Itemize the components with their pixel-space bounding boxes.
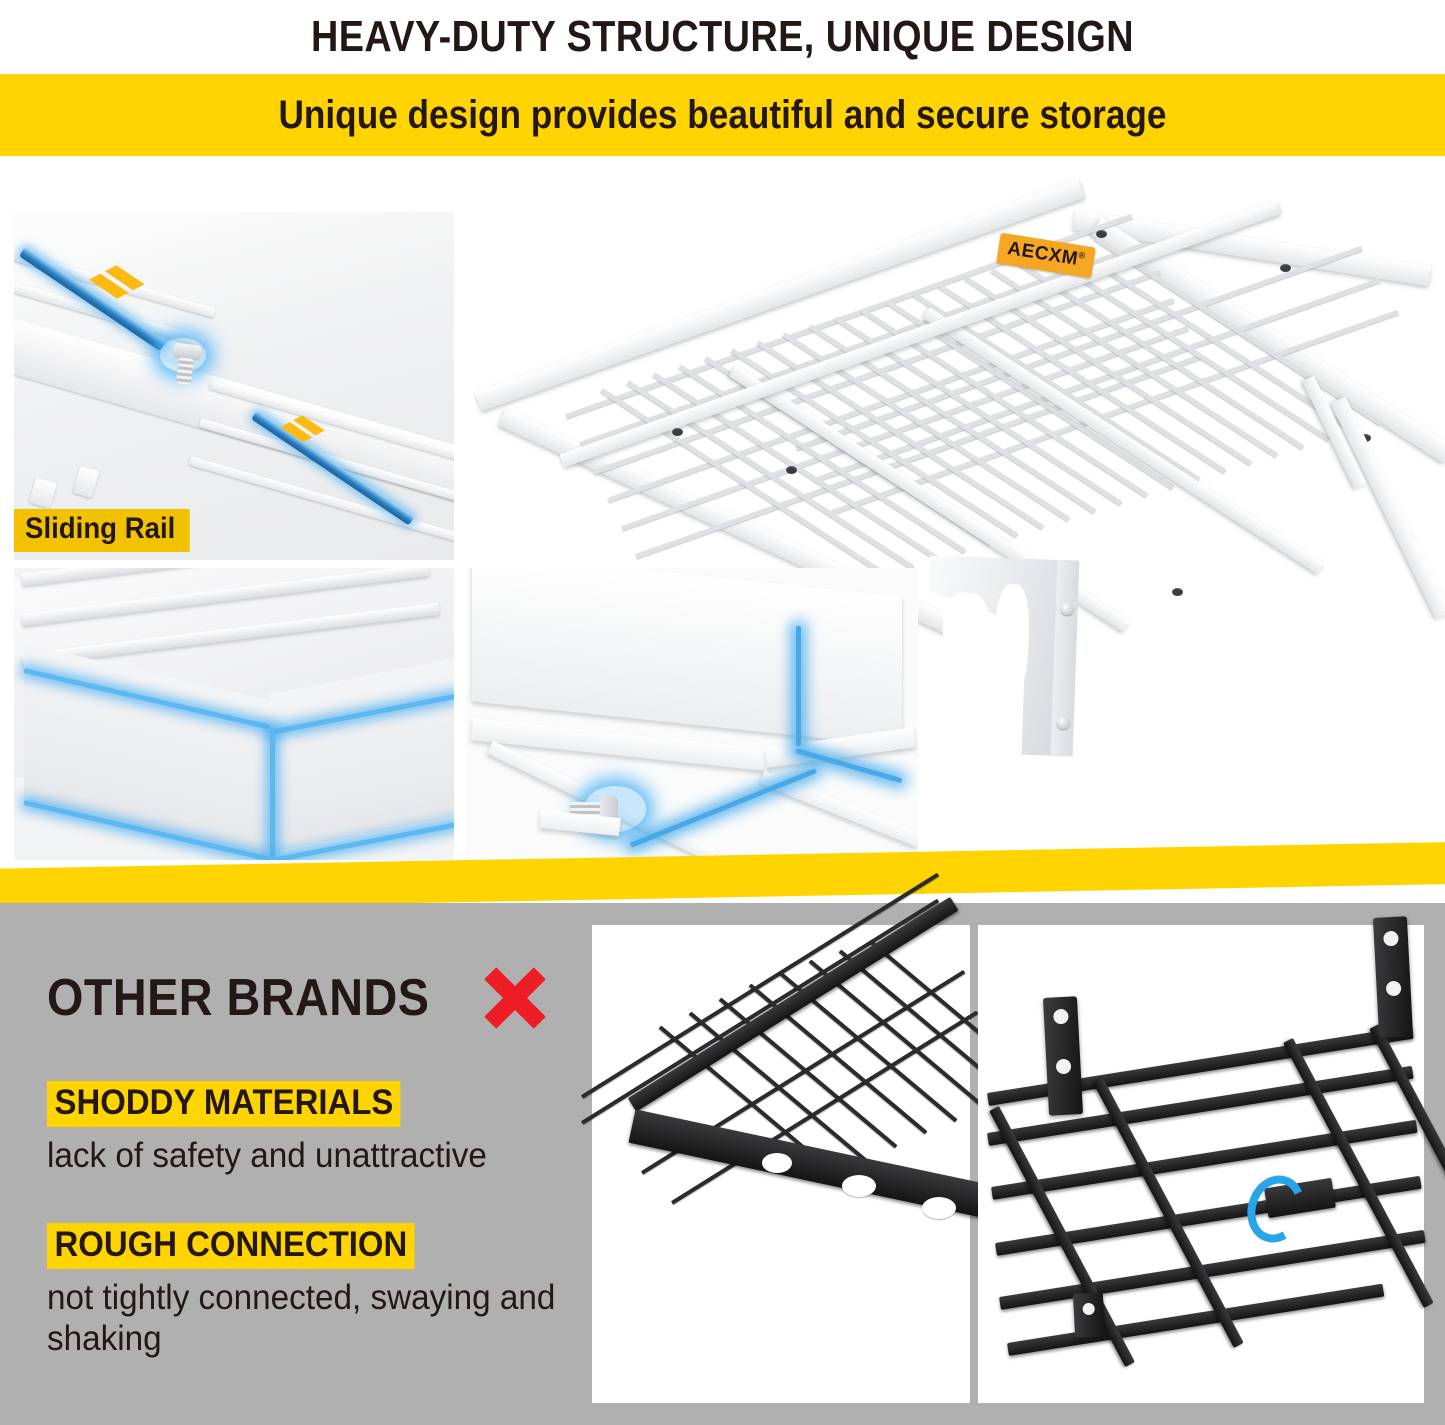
black-mesh-wire — [719, 997, 898, 1148]
rail-scene — [14, 212, 454, 560]
comparison-title-row: OTHER BRANDS — [47, 965, 548, 1031]
mounting-hole — [786, 466, 797, 474]
comparison-point: SHODDY MATERIALS lack of safety and unat… — [47, 1081, 510, 1177]
point-description: lack of safety and unattractive — [47, 1136, 487, 1177]
tight-connection-image — [466, 568, 918, 860]
comparison-point: ROUGH CONNECTION not tightly connected, … — [47, 1223, 587, 1359]
mesh-wire — [635, 354, 1202, 559]
sliding-rail-badge: Sliding Rail — [14, 509, 190, 552]
subheadline-band: Unique design provides beautiful and sec… — [0, 74, 1445, 156]
hex-bolt — [170, 343, 200, 387]
joint-glow-line — [630, 768, 817, 848]
point-heading: SHODDY MATERIALS — [47, 1081, 401, 1127]
wall-bracket — [923, 555, 1080, 756]
feature-collage: AECXM® — [0, 176, 1445, 876]
other-brand-mesh-photo — [592, 925, 970, 1403]
brand-logo-tag: AECXM® — [996, 233, 1096, 279]
mounting-hole — [672, 428, 683, 436]
mounting-hole — [1172, 588, 1183, 596]
point-heading: ROUGH CONNECTION — [47, 1223, 415, 1269]
other-brand-bar-rack-photo — [978, 925, 1424, 1403]
sliding-rail-image: Sliding Rail — [14, 212, 454, 560]
joint-glow-line — [796, 626, 801, 746]
point-description: not tightly connected, swaying and shaki… — [47, 1278, 560, 1359]
rack-assembly: AECXM® — [496, 196, 1416, 626]
reinforced-corner-image — [14, 568, 454, 860]
black-mesh-wire — [581, 899, 939, 1125]
black-wall-bracket — [1043, 996, 1083, 1116]
cross-icon — [482, 965, 548, 1031]
rail-slot — [73, 466, 100, 498]
comparison-title: OTHER BRANDS — [47, 968, 429, 1028]
shelf-panel — [472, 568, 902, 747]
corner-glow-edge — [270, 728, 275, 858]
mounting-hole — [1280, 264, 1291, 272]
mounting-hole — [1096, 230, 1107, 238]
gusset-cutout — [922, 1197, 956, 1219]
comparison-section: OTHER BRANDS SHODDY MATERIALS lack of sa… — [0, 903, 1445, 1425]
rail-slat — [14, 242, 216, 318]
subheadline-text: Unique design provides beautiful and sec… — [87, 74, 1359, 156]
page-headline: HEAVY-DUTY STRUCTURE, UNIQUE DESIGN — [101, 0, 1344, 74]
gusset-cutout — [762, 1153, 792, 1173]
black-wall-bracket — [1373, 916, 1413, 1038]
trademark-symbol: ® — [1078, 250, 1087, 261]
gusset-cutout — [842, 1175, 876, 1197]
infographic-root: HEAVY-DUTY STRUCTURE, UNIQUE DESIGN Uniq… — [0, 0, 1445, 1425]
rail-slot — [29, 477, 57, 508]
black-wall-bracket — [1073, 1292, 1105, 1338]
bracket-cutout — [942, 592, 990, 664]
brand-logo-text: AECXM — [1006, 238, 1080, 270]
highlight-hook-icon — [1239, 1168, 1313, 1250]
